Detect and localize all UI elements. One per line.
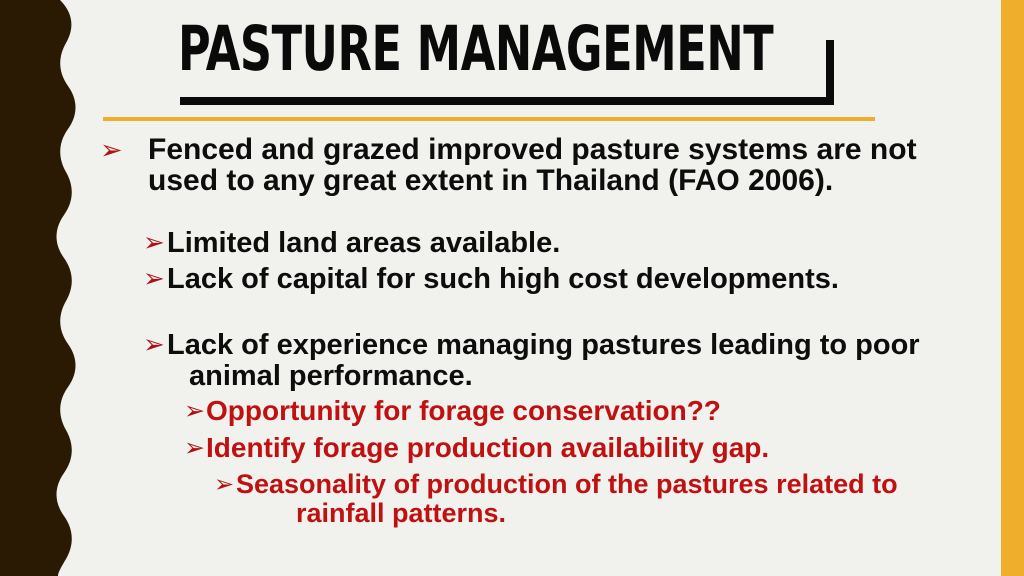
black-corner-bracket-vertical <box>826 40 834 105</box>
arrow-bullet-icon: ➢ <box>100 137 123 164</box>
list-item-label: Identify forage production availability … <box>206 433 906 463</box>
list-item-label: Seasonality of production of the pasture… <box>236 470 956 528</box>
list-item: ➢ Limited land areas available. <box>0 228 1024 264</box>
list-item: ➢ Seasonality of production of the pastu… <box>0 470 1024 532</box>
list-item: ➢ Identify forage production availabilit… <box>0 433 1024 470</box>
orange-divider-rule <box>103 117 875 121</box>
arrow-bullet-icon: ➢ <box>143 230 165 256</box>
list-item-label: Lack of capital for such high cost devel… <box>167 264 929 295</box>
list-item: ➢ Lack of capital for such high cost dev… <box>0 264 1024 330</box>
list-item: ➢ Lack of experience managing pastures l… <box>0 330 1024 396</box>
list-item-label: Limited land areas available. <box>167 228 929 259</box>
black-corner-bracket-horizontal <box>180 97 834 105</box>
slide-canvas: PASTURE MANAGEMENT ➢ Fenced and grazed i… <box>0 0 1024 576</box>
page-title: PASTURE MANAGEMENT <box>178 17 773 81</box>
list-item-label: Opportunity for forage conservation?? <box>206 396 906 426</box>
title-block: PASTURE MANAGEMENT <box>0 0 1024 130</box>
arrow-bullet-icon: ➢ <box>143 266 165 292</box>
arrow-bullet-icon: ➢ <box>143 332 165 358</box>
arrow-bullet-icon: ➢ <box>214 472 234 496</box>
list-item: ➢ Opportunity for forage conservation?? <box>0 396 1024 433</box>
list-item: ➢ Fenced and grazed improved pasture sys… <box>0 134 1024 228</box>
list-item-label: Lack of experience managing pastures lea… <box>167 330 929 392</box>
arrow-bullet-icon: ➢ <box>184 435 205 460</box>
bullet-list: ➢ Fenced and grazed improved pasture sys… <box>0 134 1024 532</box>
arrow-bullet-icon: ➢ <box>184 398 205 423</box>
list-item-label: Fenced and grazed improved pasture syste… <box>148 134 918 196</box>
